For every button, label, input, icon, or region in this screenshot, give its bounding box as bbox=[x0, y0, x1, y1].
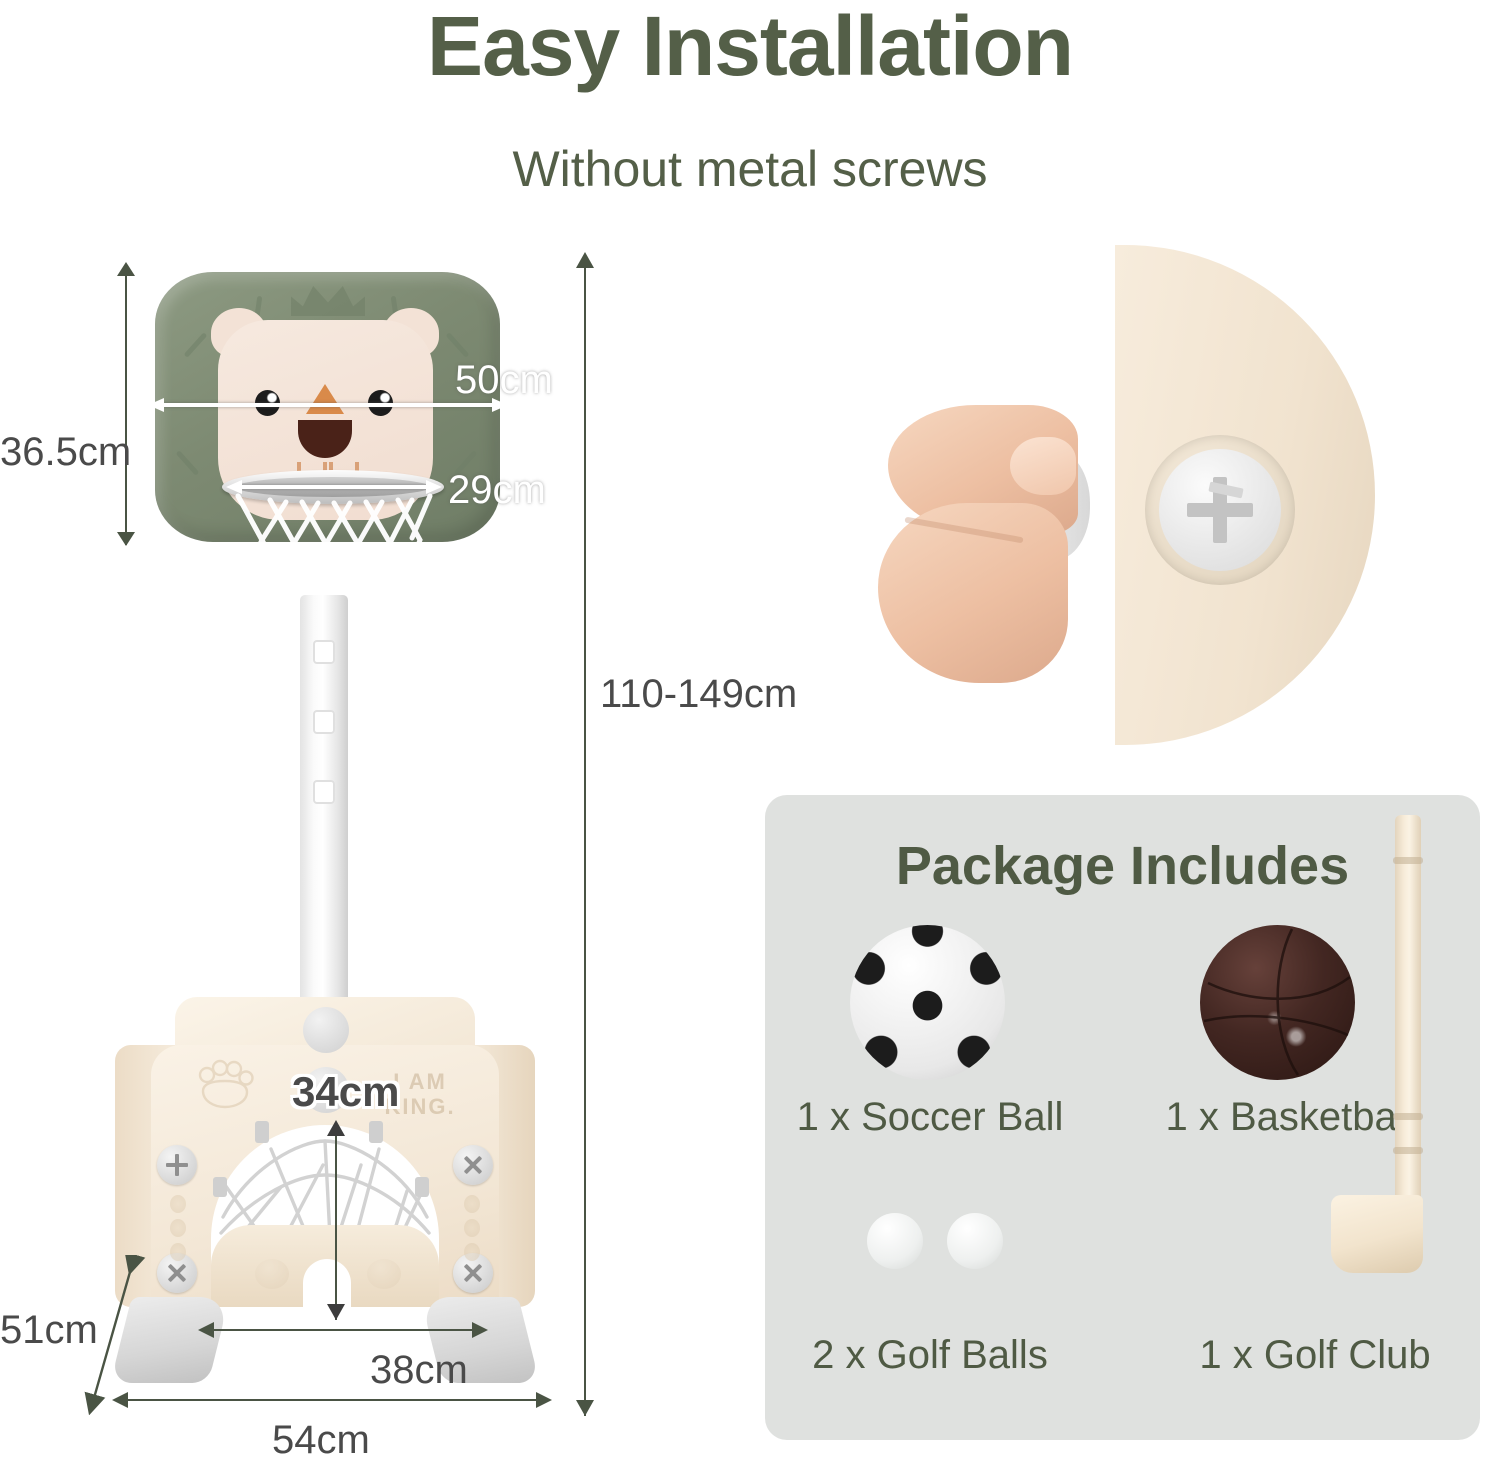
net-clip bbox=[213, 1177, 227, 1197]
backboard-tick bbox=[184, 332, 208, 358]
dimension-label-total-height: 110-149cm bbox=[600, 672, 797, 717]
golf-club-joint bbox=[1393, 1147, 1423, 1154]
base-dimple bbox=[464, 1195, 480, 1213]
dimension-label-base-depth: 51cm bbox=[0, 1308, 98, 1353]
dimension-arrow-goal-width bbox=[198, 1322, 488, 1338]
basketball-seams bbox=[1200, 925, 1355, 1080]
package-includes-panel: Package Includes 1 x Soccer Ball 1 x Bas… bbox=[765, 795, 1480, 1440]
base-bump bbox=[367, 1259, 401, 1289]
golf-club-head-icon bbox=[1331, 1195, 1423, 1273]
plastic-screw-head-icon bbox=[1159, 449, 1281, 571]
package-title: Package Includes bbox=[765, 835, 1480, 897]
net-clip bbox=[369, 1121, 383, 1143]
paw-print-icon bbox=[195, 1059, 255, 1111]
base-screw-top-right bbox=[453, 1145, 493, 1185]
base-bump bbox=[255, 1259, 289, 1289]
dimension-label-backboard-width: 50cm bbox=[455, 358, 553, 403]
base-screw-top-left bbox=[157, 1145, 197, 1185]
bear-mouth bbox=[298, 420, 352, 458]
crown-icon bbox=[291, 286, 365, 316]
screw-socket bbox=[1145, 435, 1295, 585]
dimension-arrow-total-height bbox=[575, 250, 595, 1435]
pole-height-hole bbox=[313, 780, 335, 804]
golf-club-shaft bbox=[1395, 815, 1421, 1245]
golf-ball-icon bbox=[947, 1213, 1003, 1269]
base-dimple bbox=[170, 1243, 186, 1261]
package-item-label-golf-club: 1 x Golf Club bbox=[1155, 1333, 1475, 1378]
base-dimple bbox=[170, 1195, 186, 1213]
pole-lock-knob-top[interactable] bbox=[303, 1007, 349, 1053]
product-diagram: 36.5cm 50cm bbox=[0, 230, 620, 1455]
page-title: Easy Installation bbox=[0, 4, 1500, 88]
base-dimple bbox=[464, 1219, 480, 1237]
backboard-tick bbox=[446, 332, 470, 358]
package-item-label-soccer-ball: 1 x Soccer Ball bbox=[765, 1095, 1095, 1140]
dimension-arrow-base-width bbox=[112, 1392, 552, 1408]
mounting-panel bbox=[1115, 245, 1375, 745]
soccer-ball-icon bbox=[850, 925, 1005, 1080]
thumbnail bbox=[1010, 437, 1076, 495]
net-clip bbox=[255, 1121, 269, 1143]
golf-club-joint bbox=[1393, 857, 1423, 864]
golf-ball-icon bbox=[867, 1213, 923, 1269]
dimension-label-goal-width: 38cm bbox=[370, 1348, 468, 1393]
dimension-arrow-backboard-height bbox=[0, 230, 160, 560]
page-subtitle: Without metal screws bbox=[0, 140, 1500, 198]
base-dimple bbox=[464, 1243, 480, 1261]
dimension-arrow-backboard-width bbox=[148, 398, 508, 412]
net-clip bbox=[415, 1177, 429, 1197]
golf-club-joint bbox=[1393, 1113, 1423, 1120]
dimension-arrow-rim bbox=[226, 480, 442, 494]
pole-height-hole bbox=[313, 710, 335, 734]
dimension-label-goal-height: 34cm bbox=[292, 1068, 399, 1116]
dimension-label-base-width: 54cm bbox=[272, 1418, 370, 1463]
dimension-arrow-goal-height bbox=[326, 1120, 346, 1332]
pole-height-hole bbox=[313, 640, 335, 664]
package-item-label-golf-balls: 2 x Golf Balls bbox=[765, 1333, 1095, 1378]
installation-photo bbox=[860, 235, 1420, 755]
base-dimple bbox=[170, 1219, 186, 1237]
base-body: I AM KING. bbox=[115, 997, 535, 1307]
dimension-label-rim: 29cm bbox=[448, 468, 546, 513]
dimension-label-backboard-height: 36.5cm bbox=[0, 430, 131, 475]
backboard-tick bbox=[176, 450, 200, 476]
